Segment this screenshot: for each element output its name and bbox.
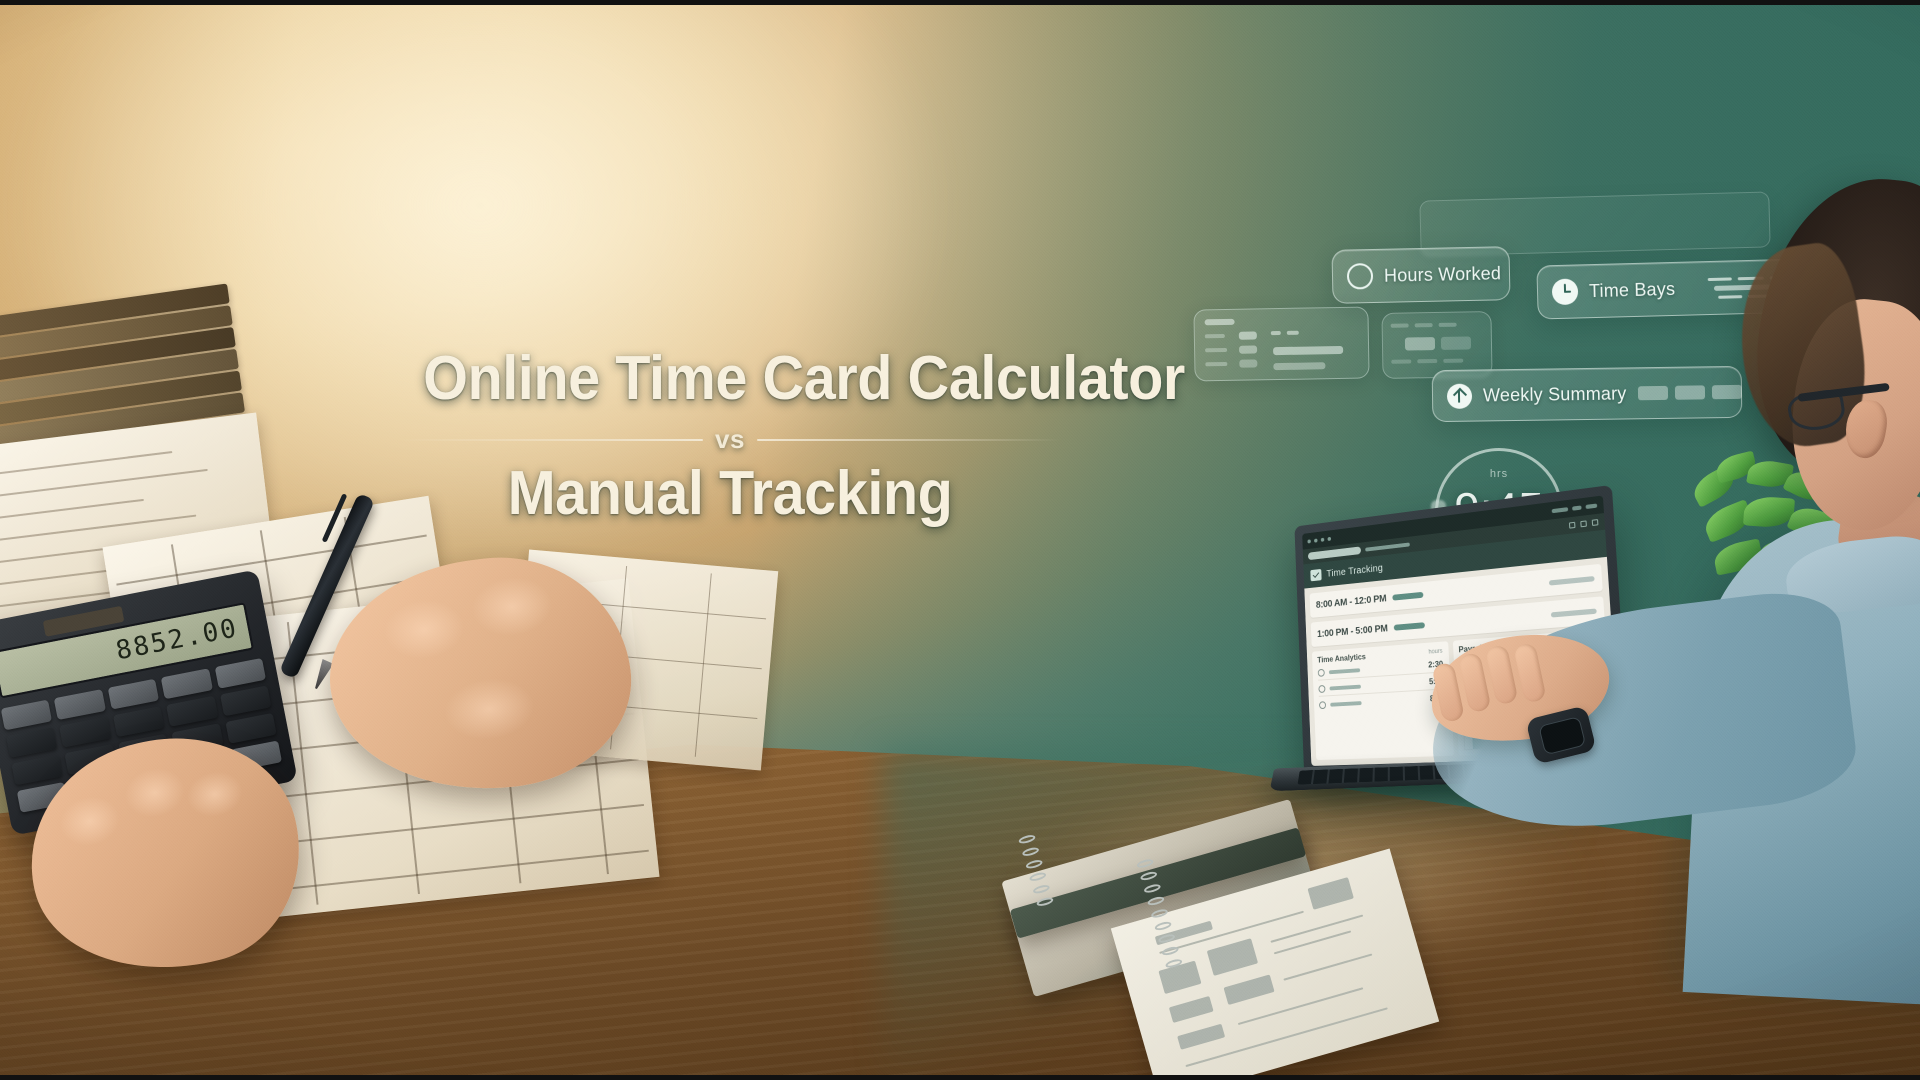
hero-banner: 8852.00 — [0, 0, 1920, 1080]
letterbox-bottom — [0, 1075, 1920, 1080]
letterbox-top — [0, 0, 1920, 5]
vignette-overlay — [0, 0, 1920, 1080]
